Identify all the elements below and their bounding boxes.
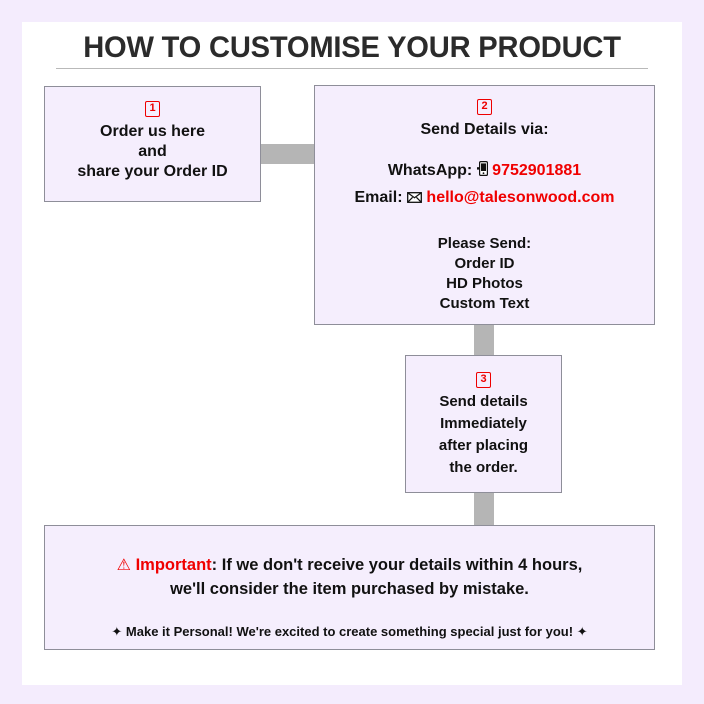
step-1-text: Order us here and share your Order ID [45, 122, 260, 182]
please-send-item-2: HD Photos [315, 274, 654, 294]
important-message: ⚠ Important: If we don't receive your de… [45, 553, 654, 601]
contact-block: WhatsApp: 9752901881 Email: [315, 158, 654, 212]
important-line-1: If we don't receive your details within … [222, 556, 583, 574]
step-number-badge-2: 2 [477, 99, 491, 115]
step-number-badge-3: 3 [476, 372, 490, 388]
step-1-line-1: Order us here [45, 122, 260, 142]
email-address[interactable]: hello@talesonwood.com [426, 189, 614, 206]
please-send-block: Please Send: Order ID HD Photos Custom T… [315, 234, 654, 314]
please-send-item-1: Order ID [315, 254, 654, 274]
step-3-line-3: after placing [406, 435, 561, 457]
step-2-box: 2 Send Details via: WhatsApp: 9752901881… [314, 85, 655, 325]
step-1-line-2: and [45, 142, 260, 162]
important-footer-row: ✦ Make it Personal! We're excited to cre… [45, 623, 654, 642]
email-row[interactable]: Email: hello@talesonwood.com [315, 185, 654, 212]
important-separator: : [212, 556, 222, 574]
important-footer-text: Make it Personal! We're excited to creat… [126, 624, 573, 639]
connector-step3-important [474, 493, 494, 525]
step-3-text: Send details Immediately after placing t… [406, 391, 561, 479]
title-divider [56, 68, 648, 69]
envelope-icon [407, 187, 422, 212]
please-send-item-3: Custom Text [315, 294, 654, 314]
sparkles-icon-left: ✦ [111, 625, 122, 640]
step-1-number-row: 1 [45, 98, 260, 117]
step-number-badge-1: 1 [145, 101, 159, 117]
whatsapp-label: WhatsApp: [388, 162, 472, 179]
connector-step1-step2 [261, 144, 314, 164]
important-label: Important [136, 556, 212, 574]
step-1-line-3: share your Order ID [45, 162, 260, 182]
page-title: HOW TO CUSTOMISE YOUR PRODUCT [32, 30, 672, 66]
connector-step2-step3 [474, 325, 494, 355]
step-2-heading: Send Details via: [315, 119, 654, 141]
step-3-box: 3 Send details Immediately after placing… [405, 355, 562, 493]
sparkles-icon-right: ✦ [577, 625, 588, 640]
important-notice-box: ⚠ Important: If we don't receive your de… [44, 525, 655, 650]
whatsapp-row[interactable]: WhatsApp: 9752901881 [315, 158, 654, 185]
email-label: Email: [355, 189, 403, 206]
important-line-2: we'll consider the item purchased by mis… [61, 577, 638, 601]
step-2-number-row: 2 [315, 96, 654, 115]
step-3-line-1: Send details [406, 391, 561, 413]
step-3-number-row: 3 [406, 369, 561, 388]
step-3-line-4: the order. [406, 457, 561, 479]
infographic-card: HOW TO CUSTOMISE YOUR PRODUCT 1 Order us… [22, 22, 682, 685]
step-3-line-2: Immediately [406, 413, 561, 435]
title-container: HOW TO CUSTOMISE YOUR PRODUCT [22, 30, 682, 66]
please-send-heading: Please Send: [315, 234, 654, 254]
whatsapp-number[interactable]: 9752901881 [492, 162, 581, 179]
mobile-phone-with-arrow-icon [477, 160, 488, 185]
warning-triangle-icon: ⚠ [117, 555, 131, 574]
step-1-box: 1 Order us here and share your Order ID [44, 86, 261, 202]
